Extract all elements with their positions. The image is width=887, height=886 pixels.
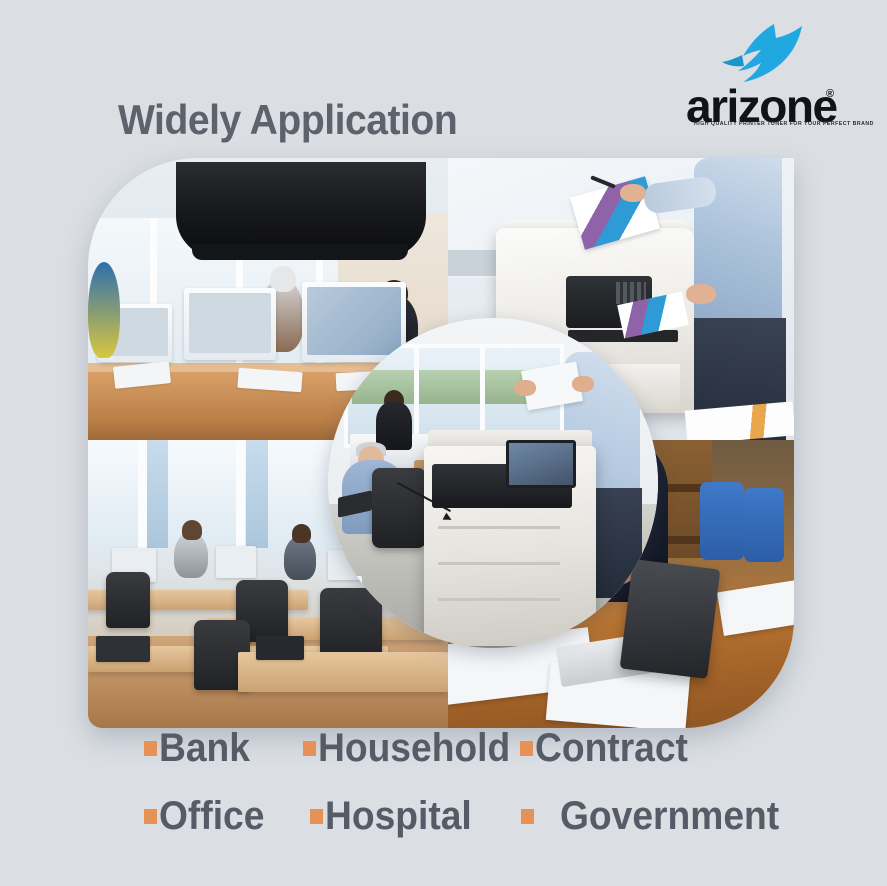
bullet-square-icon (144, 809, 157, 824)
list-item-household: Household (303, 726, 525, 770)
photo-collage (88, 158, 794, 728)
bullet-square-icon (520, 741, 533, 756)
list-item-label: Bank (159, 726, 250, 770)
photo-center-circle-meeting (328, 318, 658, 648)
application-row-1: Bank Household Contract (0, 726, 887, 784)
application-list: Bank Household Contract Office Hospital (0, 726, 887, 856)
application-row-2: Office Hospital Government (0, 794, 887, 852)
bullet-square-icon (310, 809, 323, 824)
brand-logo: arizone ® HIGH QUALITY PRINTER TONER FOR… (686, 22, 846, 134)
list-item-label: Hospital (325, 794, 472, 838)
list-item-hospital: Hospital (310, 794, 483, 838)
list-item-contract: Contract (520, 726, 699, 770)
brand-tagline: HIGH QUALITY PRINTER TONER FOR YOUR PERF… (694, 121, 846, 127)
registered-mark-icon: ® (826, 88, 834, 100)
page-title: Widely Application (118, 96, 457, 144)
list-item-bank: Bank (144, 726, 257, 770)
list-item-label: Government (560, 794, 779, 838)
list-item-label: Contract (535, 726, 688, 770)
bullet-square-icon (144, 741, 157, 756)
list-item-label: Household (318, 726, 510, 770)
list-item-government: Government (521, 794, 796, 838)
poster-canvas: Widely Application arizone ® HIGH QUALIT… (0, 0, 887, 886)
bullet-square-icon (521, 809, 534, 824)
flying-bird-icon (716, 22, 816, 86)
list-item-label: Office (159, 794, 264, 838)
bullet-square-icon (303, 741, 316, 756)
list-item-office: Office (144, 794, 272, 838)
